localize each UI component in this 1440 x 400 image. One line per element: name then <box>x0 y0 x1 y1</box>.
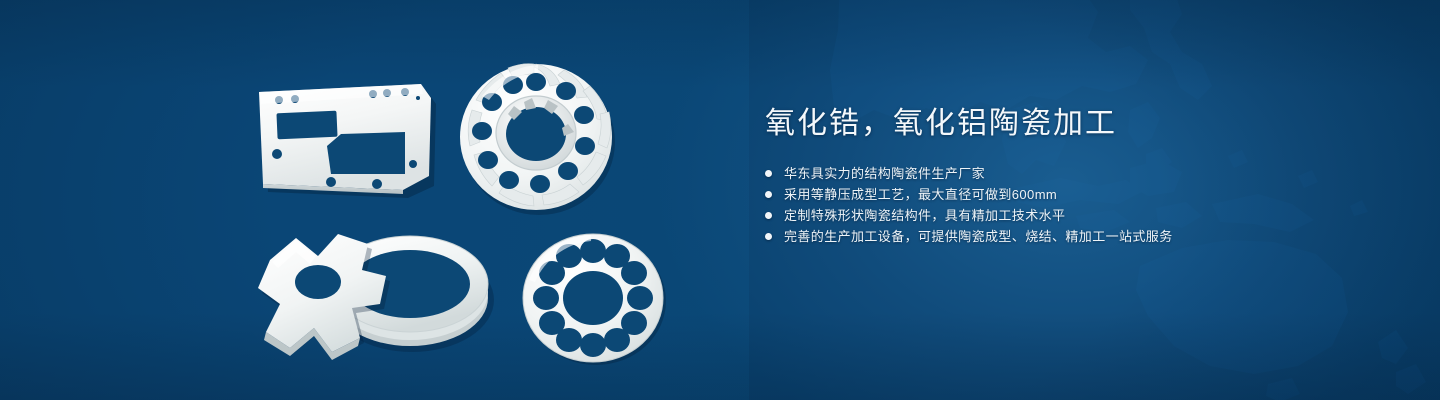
bullet-dot-icon <box>765 212 772 219</box>
feature-text: 定制特殊形状陶瓷结构件，具有精加工技术水平 <box>784 205 1065 226</box>
list-item: 采用等静压成型工艺，最大直径可做到600mm <box>765 184 1385 205</box>
feature-text: 华东具实力的结构陶瓷件生产厂家 <box>784 163 985 184</box>
feature-text: 完善的生产加工设备，可提供陶瓷成型、烧结、精加工一站式服务 <box>784 226 1173 247</box>
page-title: 氧化锆，氧化铝陶瓷加工 <box>765 103 1385 145</box>
list-item: 华东具实力的结构陶瓷件生产厂家 <box>765 163 1385 184</box>
bullet-dot-icon <box>765 170 772 177</box>
ceramic-impeller <box>452 52 622 222</box>
ceramic-plate <box>255 78 435 198</box>
feature-text: 采用等静压成型工艺，最大直径可做到600mm <box>784 184 1057 205</box>
ceramic-cross-and-rings <box>252 222 512 367</box>
feature-list: 华东具实力的结构陶瓷件生产厂家 采用等静压成型工艺，最大直径可做到600mm 定… <box>765 163 1385 247</box>
bullet-dot-icon <box>765 233 772 240</box>
list-item: 定制特殊形状陶瓷结构件，具有精加工技术水平 <box>765 205 1385 226</box>
ceramic-perforated-disc <box>515 228 675 368</box>
bullet-dot-icon <box>765 191 772 198</box>
text-column: 氧化锆，氧化铝陶瓷加工 华东具实力的结构陶瓷件生产厂家 采用等静压成型工艺，最大… <box>765 103 1385 247</box>
promo-banner: 氧化锆，氧化铝陶瓷加工 华东具实力的结构陶瓷件生产厂家 采用等静压成型工艺，最大… <box>0 0 1440 400</box>
product-image-group <box>0 0 740 400</box>
list-item: 完善的生产加工设备，可提供陶瓷成型、烧结、精加工一站式服务 <box>765 226 1385 247</box>
